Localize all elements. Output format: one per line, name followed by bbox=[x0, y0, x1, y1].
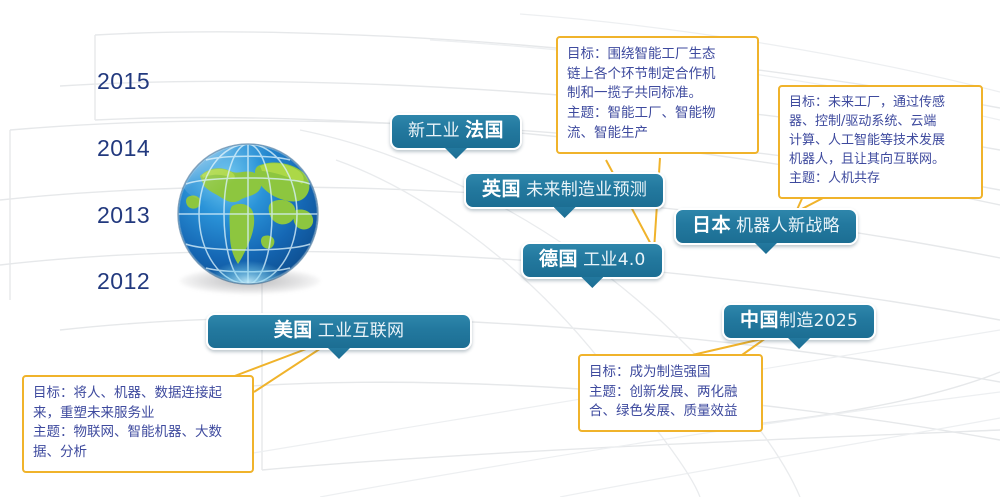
pill-notch bbox=[788, 338, 810, 349]
callout-line: 目标：成为制造强国 bbox=[589, 363, 752, 383]
pill-china-country: 中国 bbox=[740, 309, 779, 331]
pill-notch bbox=[581, 277, 603, 288]
infographic-canvas: 2015 2014 2013 2012 bbox=[0, 0, 1000, 497]
year-label-2014: 2014 bbox=[97, 135, 150, 162]
pill-usa[interactable]: 美国 工业互联网 bbox=[206, 313, 472, 350]
pill-germany-country: 德国 bbox=[539, 248, 578, 270]
year-label-2013: 2013 bbox=[97, 202, 150, 229]
pill-germany-program: 工业4.0 bbox=[583, 250, 646, 270]
callout-line: 目标：未来工厂，通过传感 bbox=[789, 94, 972, 113]
globe-graphic bbox=[172, 140, 324, 292]
callout-usa: 目标：将人、机器、数据连接起 来，重塑未来服务业 主题：物联网、智能机器、大数 … bbox=[22, 375, 254, 473]
pill-china[interactable]: 中国制造2025 bbox=[722, 303, 876, 340]
pill-japan-program: 机器人新战略 bbox=[736, 216, 840, 236]
callout-line: 计算、人工智能等技术发展 bbox=[789, 132, 972, 151]
callout-line: 机器人，且让其向互联网。 bbox=[789, 151, 972, 170]
pill-japan[interactable]: 日本 机器人新战略 bbox=[674, 208, 858, 245]
callout-line: 主题：创新发展、两化融 bbox=[589, 383, 752, 403]
callout-line: 主题：人机共存 bbox=[789, 170, 972, 189]
callout-line: 制和一揽子共同标准。 bbox=[567, 84, 748, 104]
pill-germany[interactable]: 德国 工业4.0 bbox=[521, 242, 664, 279]
callout-germany: 目标：围绕智能工厂生态 链上各个环节制定合作机 制和一揽子共同标准。 主题：智能… bbox=[556, 36, 759, 154]
pill-france-country: 法国 bbox=[465, 119, 504, 141]
year-label-2012: 2012 bbox=[97, 268, 150, 295]
pill-japan-country: 日本 bbox=[692, 214, 731, 236]
callout-line: 来，重塑未来服务业 bbox=[33, 404, 243, 424]
pill-uk-country: 英国 bbox=[482, 178, 521, 200]
pill-notch bbox=[554, 207, 576, 218]
callout-china: 目标：成为制造强国 主题：创新发展、两化融 合、绿色发展、质量效益 bbox=[578, 354, 763, 432]
pill-france[interactable]: 新工业 法国 bbox=[390, 113, 522, 150]
callout-line: 链上各个环节制定合作机 bbox=[567, 65, 748, 85]
callout-line: 主题：物联网、智能机器、大数 bbox=[33, 423, 243, 443]
callout-line: 合、绿色发展、质量效益 bbox=[589, 402, 752, 422]
pill-uk-program: 未来制造业预测 bbox=[526, 180, 647, 200]
pill-china-program: 制造2025 bbox=[779, 311, 858, 331]
pill-france-program: 新工业 bbox=[408, 121, 460, 141]
pill-usa-program: 工业互联网 bbox=[318, 321, 405, 341]
pill-notch bbox=[445, 148, 467, 159]
earth-globe bbox=[172, 140, 324, 292]
callout-line: 目标：围绕智能工厂生态 bbox=[567, 45, 748, 65]
pill-notch bbox=[755, 243, 777, 254]
callout-line: 器、控制/驱动系统、云端 bbox=[789, 113, 972, 132]
callout-line: 主题：智能工厂、智能物 bbox=[567, 104, 748, 124]
callout-line: 据、分析 bbox=[33, 443, 243, 463]
callout-japan: 目标：未来工厂，通过传感 器、控制/驱动系统、云端 计算、人工智能等技术发展 机… bbox=[778, 85, 983, 199]
year-label-2015: 2015 bbox=[97, 68, 150, 95]
pill-uk[interactable]: 英国 未来制造业预测 bbox=[464, 172, 665, 209]
pill-usa-country: 美国 bbox=[274, 319, 313, 341]
callout-line: 目标：将人、机器、数据连接起 bbox=[33, 384, 243, 404]
callout-line: 流、智能生产 bbox=[567, 124, 748, 144]
pill-notch bbox=[328, 348, 350, 359]
